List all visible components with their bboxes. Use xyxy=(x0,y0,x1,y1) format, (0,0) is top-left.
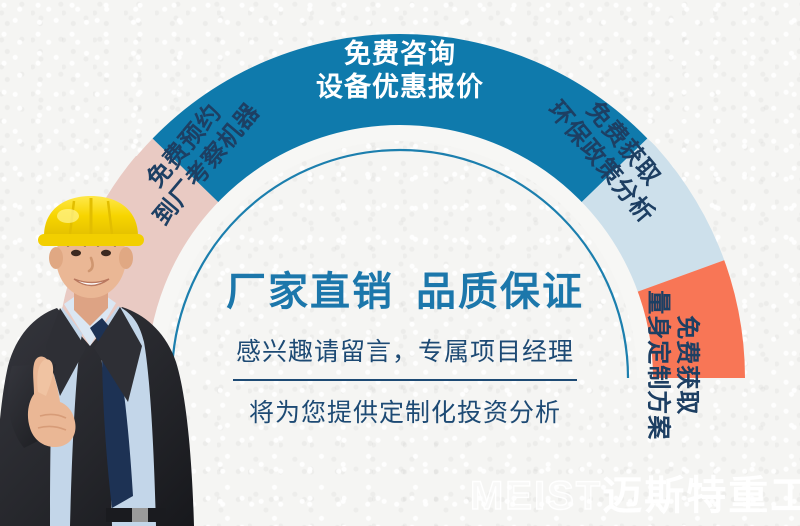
headline-left: 厂家直销 xyxy=(226,270,394,314)
businessman-illustration xyxy=(0,196,209,526)
eye-right xyxy=(101,250,111,256)
ear-left xyxy=(49,247,63,269)
headline-right: 品质保证 xyxy=(416,270,584,314)
hard-hat-brim xyxy=(38,234,144,246)
eye-left xyxy=(71,250,81,256)
belt-buckle xyxy=(132,508,148,522)
subtitle-secondary: 将为您提供定制化投资分析 xyxy=(215,393,595,429)
center-message: 厂家直销品质保证 感兴趣请留言，专属项目经理 将为您提供定制化投资分析 xyxy=(215,272,595,429)
ear-right xyxy=(119,247,133,269)
headline: 厂家直销品质保证 xyxy=(215,272,595,312)
hard-hat-highlight xyxy=(57,209,79,223)
center-divider xyxy=(233,379,577,381)
subtitle-primary: 感兴趣请留言，专属项目经理 xyxy=(215,332,595,368)
promo-banner: 免费咨询 设备优惠报价 免费预约 到厂考察机器 免费获取 环保政策分析 免费获取… xyxy=(0,0,800,526)
